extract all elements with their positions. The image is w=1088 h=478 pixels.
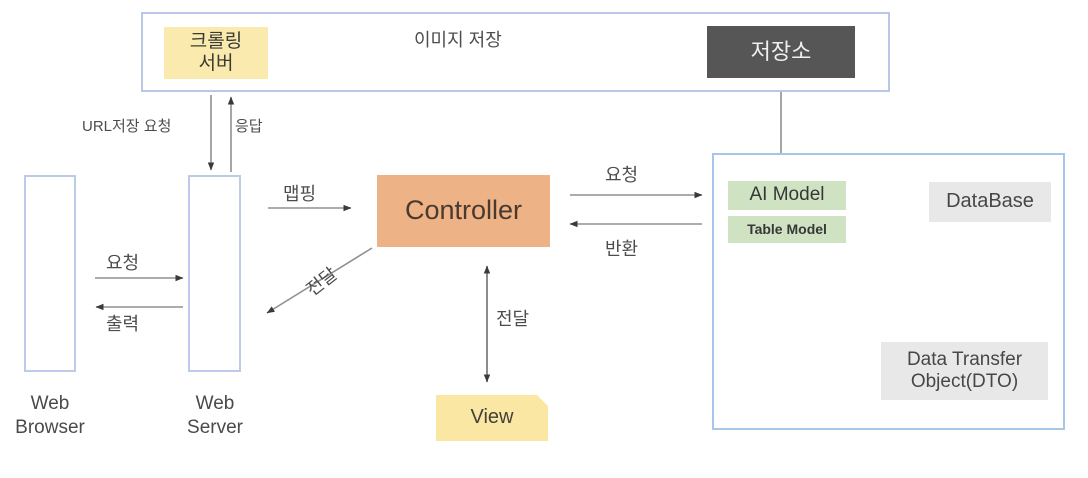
crawling-server-label: 크롤링 서버: [190, 31, 242, 76]
edge-label-response: 응답: [235, 115, 263, 136]
web-server-line1: Web: [196, 393, 235, 414]
table-model-label: Table Model: [747, 221, 827, 238]
controller-label: Controller: [405, 195, 522, 227]
node-storage[interactable]: 저장소: [707, 26, 855, 78]
edge-label-mapping: 맵핑: [283, 180, 316, 206]
storage-label: 저장소: [751, 39, 812, 65]
dto-line1: Data Transfer: [907, 349, 1022, 370]
edge-label-url-save-request: URL저장 요청: [82, 115, 171, 136]
web-browser-line2: Browser: [15, 417, 85, 438]
web-server-label: Web Server: [163, 392, 267, 440]
edge-label-browser-request: 요청: [106, 249, 139, 275]
node-web-server[interactable]: [188, 175, 241, 372]
node-dto[interactable]: Data Transfer Object(DTO): [881, 342, 1048, 400]
node-view[interactable]: View: [436, 395, 548, 441]
crawling-server-line1: 크롤링: [190, 31, 242, 52]
web-server-line2: Server: [187, 417, 243, 438]
web-browser-label: Web Browser: [0, 392, 100, 440]
web-browser-line1: Web: [31, 393, 70, 414]
edge-label-image-save: 이미지 저장: [414, 26, 502, 52]
edge-label-ai-request: 요청: [605, 161, 638, 187]
architecture-diagram: 크롤링 서버 저장소 Web Browser Web Server Contro…: [0, 0, 1088, 478]
view-label: View: [471, 406, 514, 430]
ai-model-label: AI Model: [750, 184, 825, 206]
database-label: DataBase: [946, 190, 1034, 214]
dto-line2: Object(DTO): [911, 371, 1018, 392]
dto-label: Data Transfer Object(DTO): [907, 349, 1022, 394]
node-ai-model[interactable]: AI Model: [728, 181, 846, 210]
node-web-browser[interactable]: [24, 175, 76, 372]
crawling-server-line2: 서버: [199, 53, 234, 74]
edge-label-ai-return: 반환: [605, 235, 638, 261]
edge-label-browser-output: 출력: [106, 310, 139, 336]
edge-label-deliver-view: 전달: [496, 305, 529, 331]
node-controller[interactable]: Controller: [377, 175, 550, 247]
edge-label-deliver-server: 전달: [300, 261, 342, 302]
node-table-model[interactable]: Table Model: [728, 216, 846, 243]
node-database[interactable]: DataBase: [929, 182, 1051, 222]
node-crawling-server[interactable]: 크롤링 서버: [164, 27, 268, 79]
